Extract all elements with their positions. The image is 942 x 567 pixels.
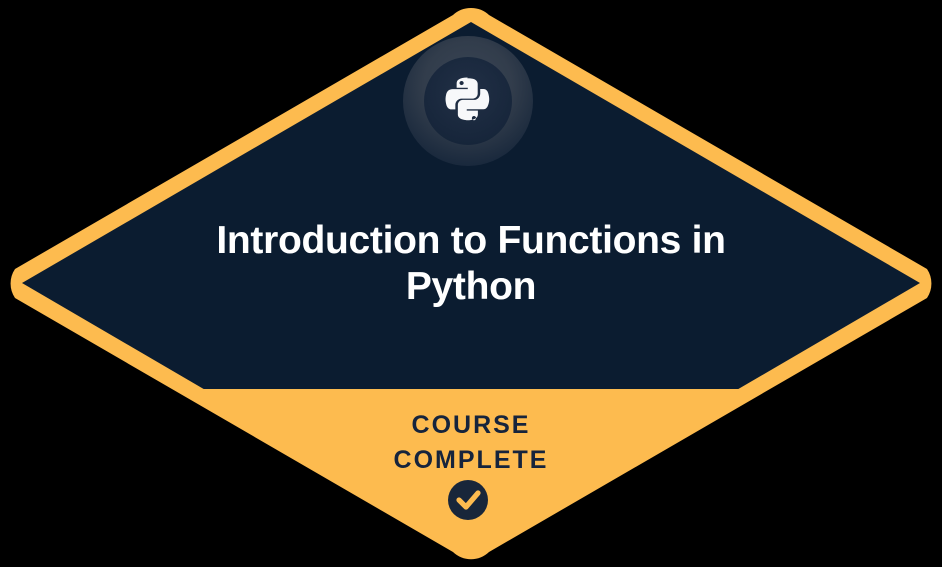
course-completion-badge: Introduction to Functions in Python COUR…	[0, 0, 942, 567]
check-circle-icon	[448, 480, 488, 520]
badge-shape	[0, 0, 942, 567]
